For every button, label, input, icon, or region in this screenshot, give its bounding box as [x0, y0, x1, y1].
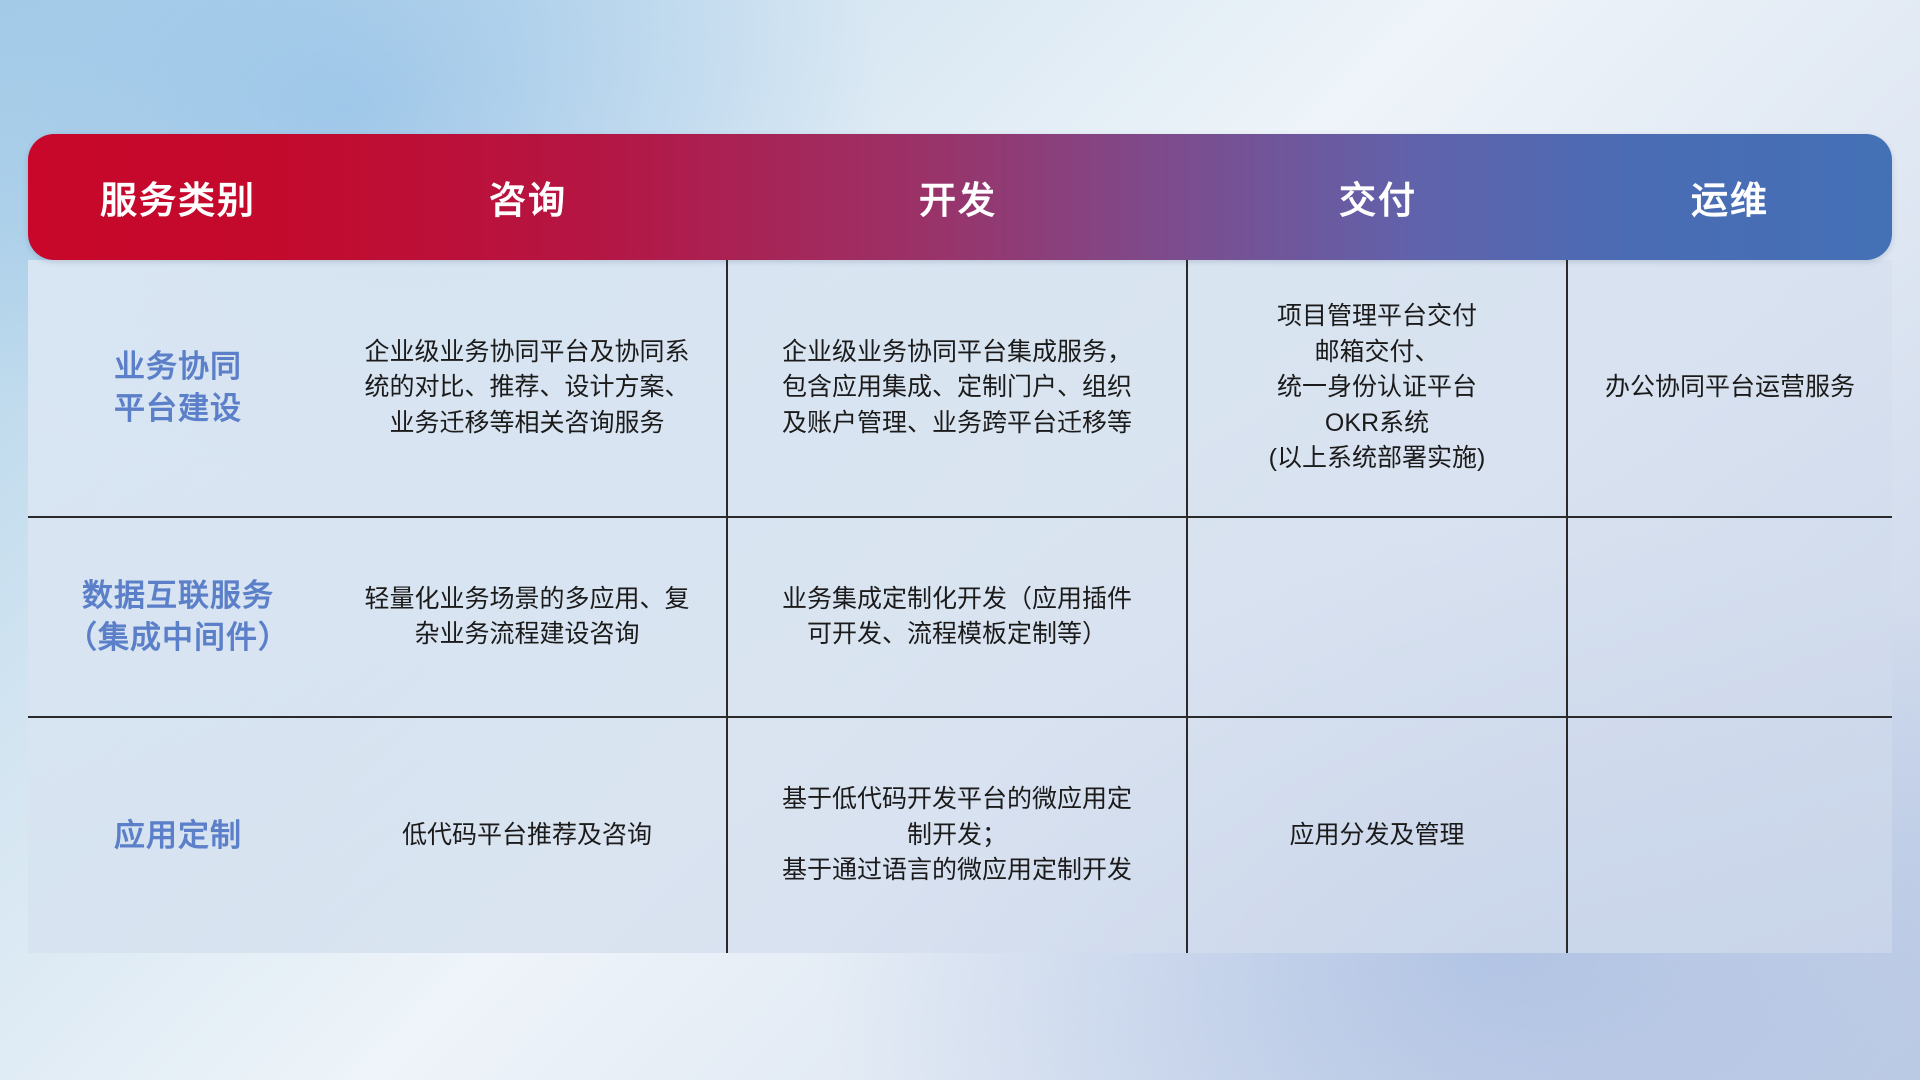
column-header-consulting: 咨询 — [328, 170, 728, 224]
cell-development: 基于低代码开发平台的微应用定 制开发； 基于通过语言的微应用定制开发 — [728, 718, 1188, 953]
column-header-service-category: 服务类别 — [28, 170, 328, 224]
column-header-operations: 运维 — [1568, 170, 1892, 224]
cell-delivery: 项目管理平台交付 邮箱交付、 统一身份认证平台 OKR系统 (以上系统部署实施) — [1188, 260, 1568, 516]
cell-consulting: 低代码平台推荐及咨询 — [328, 718, 728, 953]
row-category-label: 数据互联服务 （集成中间件） — [28, 518, 328, 716]
table-row: 应用定制 低代码平台推荐及咨询 基于低代码开发平台的微应用定 制开发； 基于通过… — [28, 718, 1892, 953]
cell-development: 企业级业务协同平台集成服务， 包含应用集成、定制门户、组织 及账户管理、业务跨平… — [728, 260, 1188, 516]
cell-delivery — [1188, 518, 1568, 716]
table-row: 数据互联服务 （集成中间件） 轻量化业务场景的多应用、复 杂业务流程建设咨询 业… — [28, 518, 1892, 718]
cell-delivery: 应用分发及管理 — [1188, 718, 1568, 953]
cell-consulting: 轻量化业务场景的多应用、复 杂业务流程建设咨询 — [328, 518, 728, 716]
column-header-delivery: 交付 — [1188, 170, 1568, 224]
row-category-label: 业务协同 平台建设 — [28, 260, 328, 516]
column-header-development: 开发 — [728, 170, 1188, 224]
table-header-bar: 服务类别 咨询 开发 交付 运维 — [28, 134, 1892, 260]
row-category-label: 应用定制 — [28, 718, 328, 953]
cell-development: 业务集成定制化开发（应用插件 可开发、流程模板定制等） — [728, 518, 1188, 716]
cell-consulting: 企业级业务协同平台及协同系 统的对比、推荐、设计方案、 业务迁移等相关咨询服务 — [328, 260, 728, 516]
cell-operations — [1568, 518, 1892, 716]
table-row: 业务协同 平台建设 企业级业务协同平台及协同系 统的对比、推荐、设计方案、 业务… — [28, 260, 1892, 518]
slide-canvas: 服务类别 咨询 开发 交付 运维 业务协同 平台建设 企业级业务协同平台及协同系… — [0, 0, 1920, 1080]
cell-operations — [1568, 718, 1892, 953]
table-body: 业务协同 平台建设 企业级业务协同平台及协同系 统的对比、推荐、设计方案、 业务… — [28, 260, 1892, 953]
cell-operations: 办公协同平台运营服务 — [1568, 260, 1892, 516]
